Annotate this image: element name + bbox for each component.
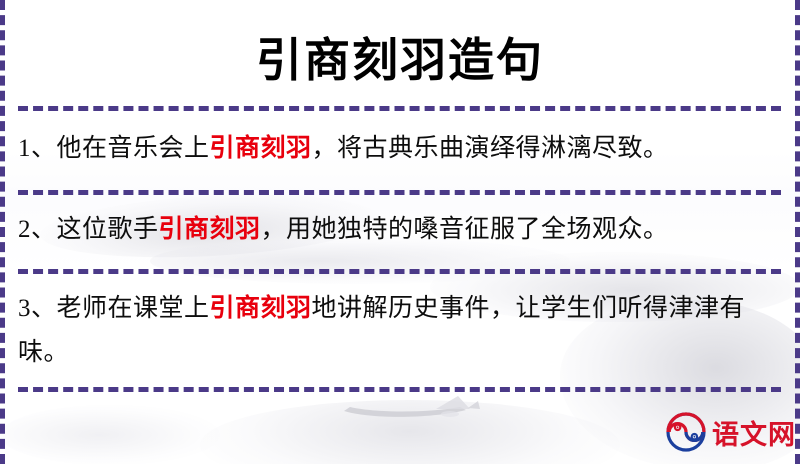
page-title: 引商刻羽造句	[0, 24, 800, 90]
site-logo-text: 语文网	[712, 413, 796, 452]
wash-blob-5	[200, 400, 620, 464]
sentence-2-idiom: 引商刻羽	[159, 216, 261, 243]
sentence-item-3: 3、老师在课堂上引商刻羽地讲解历史事件，让学生们听得津津有味。	[18, 287, 782, 375]
sentence-worksheet-page: 引商刻羽造句 1、他在音乐会上引商刻羽，将古典乐曲演绎得淋漓尽致。 2、这位歌手…	[0, 0, 800, 464]
sentence-2-after: ，用她独特的嗓音征服了全场观众。	[261, 216, 669, 243]
site-logo[interactable]: 语文网	[666, 412, 796, 452]
separator-line-4	[18, 387, 781, 392]
sentence-1-index: 1、	[18, 135, 57, 162]
separator-line-3	[18, 269, 781, 274]
sentence-1-before: 他在音乐会上	[57, 135, 210, 162]
sentence-3-index: 3、	[18, 295, 57, 322]
sentence-2-before: 这位歌手	[57, 216, 159, 243]
sentence-3-idiom: 引商刻羽	[210, 295, 312, 322]
sentence-2-index: 2、	[18, 216, 57, 243]
separator-line-2	[18, 190, 781, 195]
boat-illustration	[340, 395, 500, 423]
sentence-item-1: 1、他在音乐会上引商刻羽，将古典乐曲演绎得淋漓尽致。	[18, 127, 782, 171]
wash-blob-6	[0, 405, 220, 464]
separator-line-1	[18, 106, 781, 111]
sentence-1-idiom: 引商刻羽	[210, 135, 312, 162]
yin-yang-fish-emblem-icon	[666, 412, 706, 452]
sentence-item-2: 2、这位歌手引商刻羽，用她独特的嗓音征服了全场观众。	[18, 208, 782, 252]
sentence-1-after: ，将古典乐曲演绎得淋漓尽致。	[312, 135, 669, 162]
sentence-3-before: 老师在课堂上	[57, 295, 210, 322]
